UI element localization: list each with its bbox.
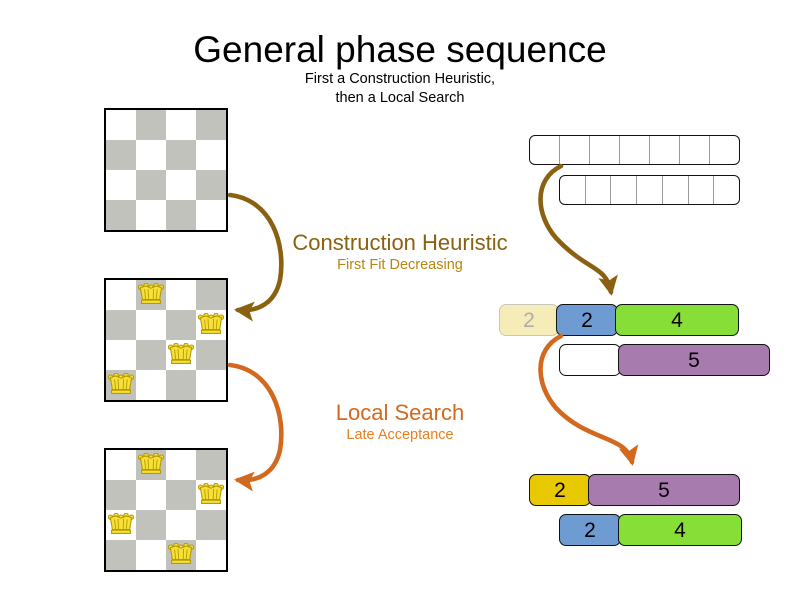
board-cell[interactable] [196,340,226,370]
board-cell[interactable] [106,200,136,230]
board-cell[interactable] [196,310,226,340]
bin-item-block[interactable]: 2 [529,474,591,506]
board-cell[interactable] [106,310,136,340]
page-subtitle: First a Construction Heuristic, then a L… [0,70,800,108]
bin-slot[interactable] [590,136,620,164]
bin-slot[interactable] [663,176,689,204]
board-cell[interactable] [196,170,226,200]
bin-slot[interactable] [650,136,680,164]
board-cell[interactable] [166,170,196,200]
board-cell[interactable] [106,140,136,170]
board-initial[interactable] [104,108,228,232]
bin-slot[interactable] [680,136,710,164]
board-cell[interactable] [136,110,166,140]
bin-slot[interactable] [560,176,586,204]
queen-icon [138,283,164,307]
bin-item-label: 4 [674,520,686,541]
board-cell[interactable] [106,340,136,370]
board-cell[interactable] [136,340,166,370]
packed-bin-bottom[interactable]: 5 [559,344,767,376]
board-cell[interactable] [136,510,166,540]
bin-slot[interactable] [689,176,715,204]
board-cell[interactable] [106,110,136,140]
board-cell[interactable] [106,280,136,310]
board-after-local-search-grid [106,450,226,570]
board-cell[interactable] [196,540,226,570]
queen-icon [198,483,224,507]
queen-icon [198,313,224,337]
bin-slot[interactable] [586,176,612,204]
phase-construction-heuristic-subtitle: First Fit Decreasing [250,256,550,275]
board-cell[interactable] [106,450,136,480]
diagram-canvas: General phase sequence First a Construct… [0,0,800,600]
board-cell[interactable] [136,540,166,570]
page-subtitle-line2: then a Local Search [0,89,800,108]
bin-item-label: 5 [688,350,700,371]
bin-slot[interactable] [611,176,637,204]
queen-icon [108,373,134,397]
bin-item-label: 4 [671,310,683,331]
board-cell[interactable] [136,480,166,510]
bin-item-label: 5 [658,480,670,501]
board-cell[interactable] [166,370,196,400]
bin-slot[interactable] [530,136,560,164]
board-cell[interactable] [106,170,136,200]
board-cell[interactable] [136,140,166,170]
board-cell[interactable] [196,370,226,400]
board-cell[interactable] [166,480,196,510]
bin-item-block[interactable]: 2 [559,514,621,546]
bin-slot[interactable] [560,136,590,164]
board-cell[interactable] [166,200,196,230]
phase-construction-heuristic-title: Construction Heuristic [250,230,550,256]
page-title: General phase sequence [0,28,800,72]
page-subtitle-line1: First a Construction Heuristic, [0,70,800,89]
bin-item-block[interactable]: 4 [618,514,742,546]
board-cell[interactable] [196,510,226,540]
board-cell[interactable] [136,450,166,480]
board-cell[interactable] [106,480,136,510]
board-cell[interactable] [166,450,196,480]
bin-item-label: 2 [523,310,535,331]
phase-construction-heuristic: Construction Heuristic First Fit Decreas… [250,230,550,275]
bin-slot[interactable] [714,176,739,204]
empty-bin-top[interactable] [529,135,740,165]
board-after-construction-grid [106,280,226,400]
bin-item-label: 2 [581,310,593,331]
board-cell[interactable] [166,540,196,570]
board-cell[interactable] [106,510,136,540]
bin-item-block[interactable]: 4 [615,304,739,336]
board-cell[interactable] [136,200,166,230]
board-after-local-search[interactable] [104,448,228,572]
board-cell[interactable] [166,310,196,340]
board-cell[interactable] [196,110,226,140]
board-cell[interactable] [106,540,136,570]
board-cell[interactable] [196,280,226,310]
optimized-bin-top[interactable]: 25 [529,474,737,506]
empty-bin-top-cells [530,136,739,164]
phase-local-search: Local Search Late Acceptance [250,400,550,445]
board-cell[interactable] [166,110,196,140]
bin-item-block[interactable]: 2 [556,304,618,336]
empty-bin-bottom-cells [560,176,739,204]
queen-icon [168,343,194,367]
queen-icon [138,453,164,477]
optimized-bin-bottom[interactable]: 24 [559,514,739,546]
phase-local-search-title: Local Search [250,400,550,426]
board-cell[interactable] [196,140,226,170]
bin-item-label: 2 [584,520,596,541]
queen-icon [168,543,194,567]
bin-item-block[interactable]: 5 [588,474,740,506]
phase-local-search-subtitle: Late Acceptance [250,426,550,445]
board-after-construction[interactable] [104,278,228,402]
bin-slot[interactable] [710,136,739,164]
board-initial-grid [106,110,226,230]
board-cell[interactable] [196,480,226,510]
board-cell[interactable] [136,170,166,200]
board-cell[interactable] [136,310,166,340]
board-cell[interactable] [166,510,196,540]
board-cell[interactable] [166,280,196,310]
bin-item-label: 2 [554,480,566,501]
board-cell[interactable] [136,370,166,400]
queen-icon [108,513,134,537]
board-cell[interactable] [136,280,166,310]
bin-item-block[interactable]: 5 [618,344,770,376]
bin-slot[interactable] [637,176,663,204]
board-cell[interactable] [196,450,226,480]
bin-free-space[interactable] [559,344,621,376]
bin-item-block[interactable]: 2 [499,304,559,336]
board-cell[interactable] [106,370,136,400]
board-cell[interactable] [196,200,226,230]
board-cell[interactable] [166,340,196,370]
empty-bin-bottom[interactable] [559,175,740,205]
bin-slot[interactable] [620,136,650,164]
board-cell[interactable] [166,140,196,170]
packed-bin-top[interactable]: 224 [499,304,736,336]
